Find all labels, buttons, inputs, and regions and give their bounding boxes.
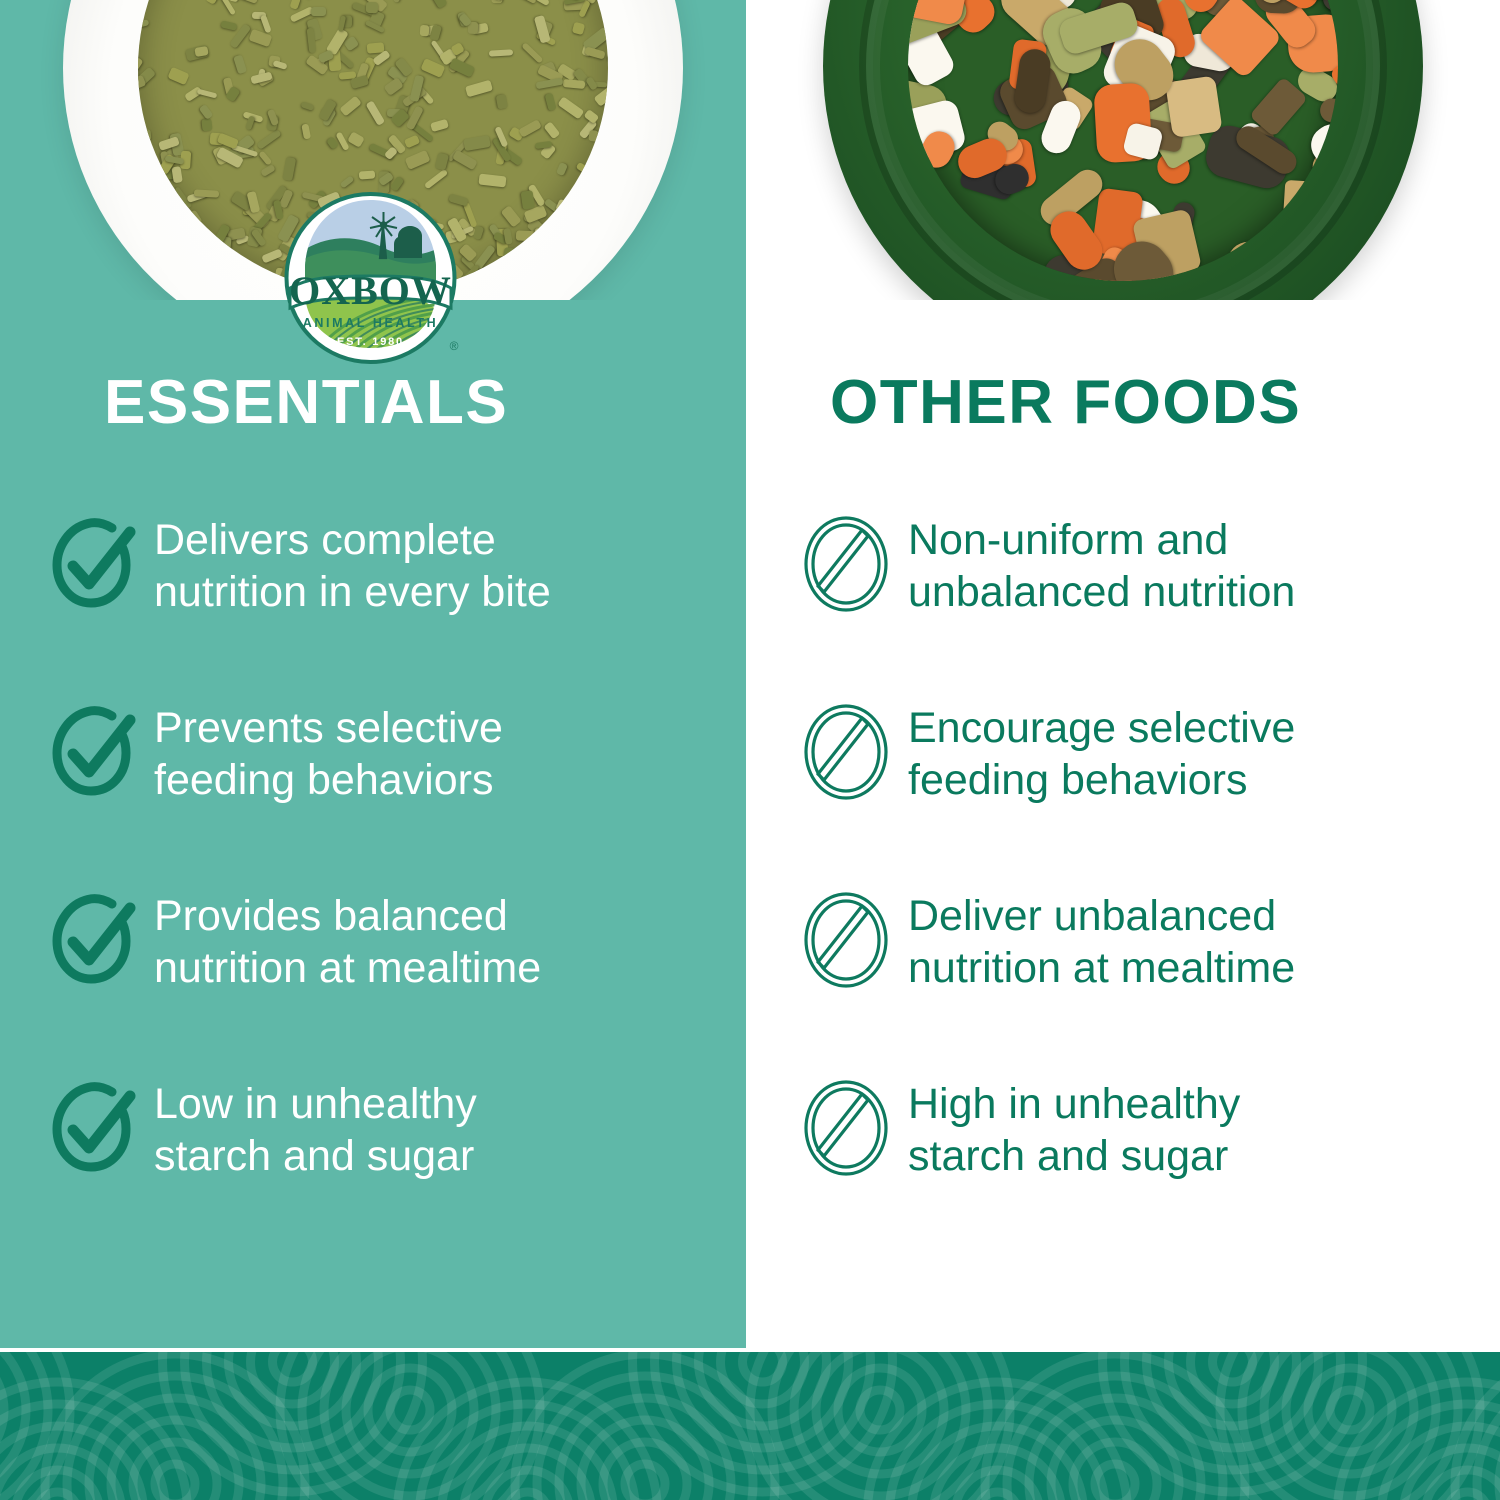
green-bowl [823,0,1423,300]
right-product-photo [746,0,1500,300]
list-item: Encourage selective feeding behaviors [800,696,1460,814]
logo-established: EST. 1980 [337,336,404,348]
list-item-line2: feeding behaviors [154,756,493,804]
list-item-line2: nutrition in every bite [154,568,551,616]
prohibited-circle-icon [800,884,908,1002]
list-item-line1: Low in unhealthy [154,1080,477,1128]
essentials-benefit-list: Delivers complete nutrition in every bit… [46,508,736,1190]
list-item-line1: Deliver unbalanced [908,892,1276,940]
list-item-line1: Prevents selective [154,704,503,752]
list-item-line1: Delivers complete [154,516,496,564]
list-item-line2: unbalanced nutrition [908,568,1295,616]
list-item-text: Provides balanced nutrition at mealtime [154,884,541,995]
list-item: Prevents selective feeding behaviors [46,696,736,814]
list-item: Provides balanced nutrition at mealtime [46,884,736,1002]
footer-pattern-band [0,1352,1500,1500]
prohibited-circle-icon [800,1072,908,1190]
list-item-text: Non-uniform and unbalanced nutrition [908,508,1295,619]
right-column-heading: OTHER FOODS [830,372,1301,434]
list-item-line1: Encourage selective [908,704,1295,752]
check-circle-icon [46,508,154,626]
list-item: High in unhealthy starch and sugar [800,1072,1460,1190]
logo-wordmark: OXBOW [289,268,452,313]
list-item-text: Deliver unbalanced nutrition at mealtime [908,884,1295,995]
prohibited-circle-icon [800,508,908,626]
list-item-text: Delivers complete nutrition in every bit… [154,508,551,619]
comparison-infographic: OXBOW ANIMAL HEALTH EST. 1980 ® ESSENTIA… [0,0,1500,1500]
list-item-text: High in unhealthy starch and sugar [908,1072,1240,1183]
list-item-line2: nutrition at mealtime [154,944,541,992]
other-foods-drawback-list: Non-uniform and unbalanced nutrition Enc… [800,508,1460,1190]
list-item: Low in unhealthy starch and sugar [46,1072,736,1190]
list-item-line2: nutrition at mealtime [908,944,1295,992]
check-circle-icon [46,696,154,814]
oxbow-logo: OXBOW ANIMAL HEALTH EST. 1980 ® [268,192,473,370]
logo-subtitle: ANIMAL HEALTH [303,316,438,330]
list-item: Delivers complete nutrition in every bit… [46,508,736,626]
list-item-line1: High in unhealthy [908,1080,1240,1128]
list-item-text: Low in unhealthy starch and sugar [154,1072,477,1183]
list-item-line2: starch and sugar [908,1132,1228,1180]
list-item-line1: Provides balanced [154,892,508,940]
left-column-heading: ESSENTIALS [104,372,508,434]
list-item-text: Encourage selective feeding behaviors [908,696,1295,807]
muesli-mix [908,0,1338,281]
list-item-line2: starch and sugar [154,1132,474,1180]
prohibited-circle-icon [800,696,908,814]
list-item: Deliver unbalanced nutrition at mealtime [800,884,1460,1002]
logo-trademark-icon: ® [450,339,459,353]
check-circle-icon [46,1072,154,1190]
list-item-line2: feeding behaviors [908,756,1247,804]
check-circle-icon [46,884,154,1002]
list-item-line1: Non-uniform and [908,516,1228,564]
list-item-text: Prevents selective feeding behaviors [154,696,503,807]
list-item: Non-uniform and unbalanced nutrition [800,508,1460,626]
